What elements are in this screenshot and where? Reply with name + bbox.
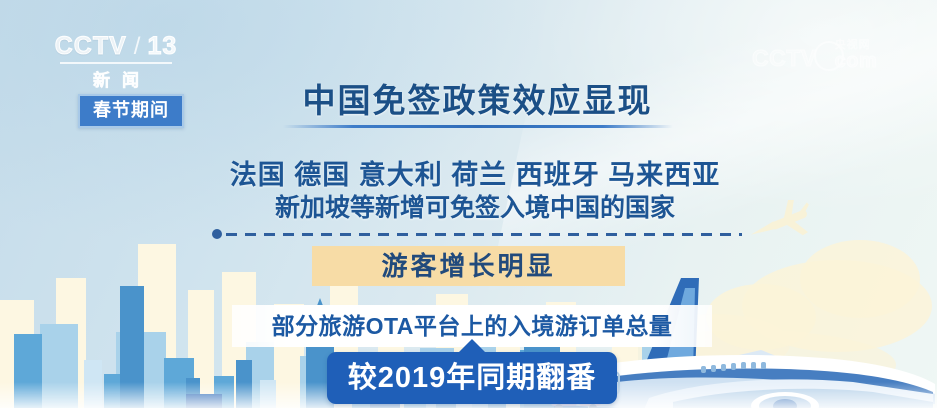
- headline-block: 中国免签政策效应显现: [205, 80, 750, 128]
- country-list-line-1: 法国 德国 意大利 荷兰 西班牙 马来西亚: [190, 158, 760, 192]
- watermark-right-block: 央视网 com: [835, 40, 878, 72]
- comparison-callout: 较2019年同期翻番: [327, 352, 617, 404]
- broadcast-graphic-frame: CCTV / 13 新闻 CCTV 央视网 com 春节期间 中国免签政策效应显…: [0, 0, 937, 408]
- cctv-logo-rule: [60, 62, 172, 64]
- ota-orders-label: 部分旅游OTA平台上的入境游订单总量: [272, 312, 673, 340]
- cctv-wordmark: CCTV: [55, 32, 127, 61]
- watermark-domain: com: [835, 51, 878, 72]
- cctv-logo-slash: /: [134, 33, 141, 61]
- cloud-shape: [742, 260, 932, 352]
- festival-period-badge-label: 春节期间: [93, 100, 169, 120]
- cctv-logo-row: CCTV / 13: [48, 32, 184, 61]
- divider-dashed-line: [226, 233, 742, 236]
- headline-underline: [283, 125, 673, 128]
- tourist-growth-label: 游客增长明显: [381, 251, 555, 281]
- tourist-growth-band: 游客增长明显: [312, 246, 625, 286]
- cctv-com-watermark: CCTV 央视网 com: [752, 40, 877, 72]
- cctv-channel-logo: CCTV / 13 新闻: [48, 32, 184, 91]
- dashed-divider: [212, 228, 742, 240]
- festival-period-badge: 春节期间: [78, 94, 184, 128]
- divider-dot: [212, 229, 222, 239]
- cloud-shape: [800, 240, 920, 318]
- watermark-brand: CCTV: [752, 45, 817, 72]
- watermark-row: CCTV 央视网 com: [752, 40, 877, 72]
- comparison-callout-label: 较2019年同期翻番: [348, 361, 597, 395]
- page-title: 中国免签政策效应显现: [205, 80, 750, 122]
- country-list-line-2: 新加坡等新增可免签入境中国的国家: [190, 192, 760, 225]
- cctv-channel-number: 13: [147, 32, 177, 61]
- cloud-shape: [706, 284, 816, 350]
- cctv-logo-subtitle: 新闻: [48, 66, 184, 91]
- country-list-block: 法国 德国 意大利 荷兰 西班牙 马来西亚 新加坡等新增可免签入境中国的国家: [190, 158, 760, 225]
